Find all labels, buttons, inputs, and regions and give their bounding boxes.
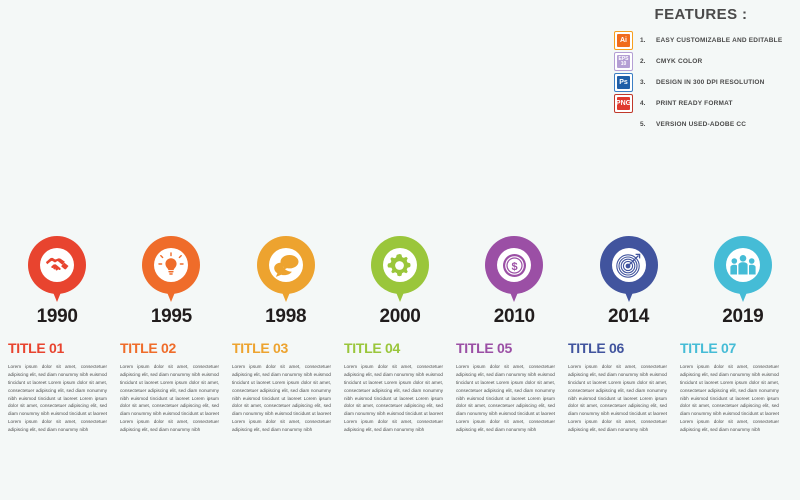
gear-icon <box>383 248 417 282</box>
timeline-marker-2010[interactable]: $2010 <box>457 236 571 328</box>
content-column-4: TITLE 04Lorem ipsum dolor sit amet, cons… <box>344 340 456 434</box>
column-title: TITLE 06 <box>568 340 667 356</box>
column-body-text: Lorem ipsum dolor sit amet, consectetuer… <box>344 363 443 434</box>
pin-circle <box>600 236 658 294</box>
year-label: 1990 <box>37 306 78 328</box>
lightbulb-icon <box>154 248 188 282</box>
pin-circle <box>371 236 429 294</box>
map-pin[interactable] <box>142 236 200 294</box>
pin-circle <box>257 236 315 294</box>
map-pin[interactable] <box>28 236 86 294</box>
column-body-text: Lorem ipsum dolor sit amet, consectetuer… <box>232 363 331 434</box>
blank-badge <box>614 115 633 134</box>
people-group-icon <box>726 248 760 282</box>
column-body-text: Lorem ipsum dolor sit amet, consectetuer… <box>568 363 667 434</box>
feature-label: EASY CUSTOMIZABLE AND EDITABLE <box>656 37 782 44</box>
features-panel: FEATURES : Ai1.EASY CUSTOMIZABLE AND EDI… <box>614 6 794 136</box>
map-pin[interactable] <box>257 236 315 294</box>
timeline-markers: 1990199519982000$201020142019 <box>0 236 800 328</box>
map-pin[interactable] <box>714 236 772 294</box>
badge-text: PNG <box>616 100 631 107</box>
feature-row: Ps3.DESIGN IN 300 DPI RESOLUTION <box>614 73 794 92</box>
column-body-text: Lorem ipsum dolor sit amet, consectetuer… <box>120 363 219 434</box>
timeline-marker-2000[interactable]: 2000 <box>343 236 457 328</box>
feature-number: 5. <box>640 121 656 128</box>
year-label: 1995 <box>151 306 192 328</box>
pin-circle <box>714 236 772 294</box>
column-title: TITLE 03 <box>232 340 331 356</box>
pin-circle <box>28 236 86 294</box>
timeline-content-columns: TITLE 01Lorem ipsum dolor sit amet, cons… <box>0 340 800 434</box>
feature-row: Ai1.EASY CUSTOMIZABLE AND EDITABLE <box>614 31 794 50</box>
column-title: TITLE 07 <box>680 340 779 356</box>
feature-number: 3. <box>640 79 656 86</box>
png-badge-label: PNG <box>617 97 630 110</box>
features-title: FEATURES : <box>614 6 794 23</box>
badge-text: Ps <box>619 79 628 86</box>
timeline-marker-2014[interactable]: 2014 <box>571 236 685 328</box>
content-column-7: TITLE 07Lorem ipsum dolor sit amet, cons… <box>680 340 792 434</box>
feature-label: VERSION USED-ADOBE CC <box>656 121 746 128</box>
column-body-text: Lorem ipsum dolor sit amet, consectetuer… <box>456 363 555 434</box>
dollar-coin-icon: $ <box>497 248 531 282</box>
target-icon <box>612 248 646 282</box>
content-column-2: TITLE 02Lorem ipsum dolor sit amet, cons… <box>120 340 232 434</box>
timeline-marker-1990[interactable]: 1990 <box>0 236 114 328</box>
column-title: TITLE 04 <box>344 340 443 356</box>
timeline-marker-1995[interactable]: 1995 <box>114 236 228 328</box>
png-badge: PNG <box>614 94 633 113</box>
year-label: 2010 <box>494 306 535 328</box>
pin-circle: $ <box>485 236 543 294</box>
column-title: TITLE 01 <box>8 340 107 356</box>
column-body-text: Lorem ipsum dolor sit amet, consectetuer… <box>680 363 779 434</box>
speech-bubbles-icon <box>269 248 303 282</box>
timeline-marker-1998[interactable]: 1998 <box>229 236 343 328</box>
eps10-badge: EPS10 <box>614 52 633 71</box>
eps10-badge-label: EPS10 <box>617 55 630 68</box>
content-column-1: TITLE 01Lorem ipsum dolor sit amet, cons… <box>8 340 120 434</box>
timeline-marker-2019[interactable]: 2019 <box>686 236 800 328</box>
feature-number: 1. <box>640 37 656 44</box>
map-pin[interactable]: $ <box>485 236 543 294</box>
badge-text: Ai <box>620 37 627 44</box>
map-pin[interactable] <box>600 236 658 294</box>
badge-text-2: 10 <box>621 62 627 67</box>
adobe-illustrator-badge: Ai <box>614 31 633 50</box>
content-column-3: TITLE 03Lorem ipsum dolor sit amet, cons… <box>232 340 344 434</box>
year-label: 2000 <box>379 306 420 328</box>
column-title: TITLE 05 <box>456 340 555 356</box>
column-title: TITLE 02 <box>120 340 219 356</box>
adobe-photoshop-badge: Ps <box>614 73 633 92</box>
content-column-5: TITLE 05Lorem ipsum dolor sit amet, cons… <box>456 340 568 434</box>
content-column-6: TITLE 06Lorem ipsum dolor sit amet, cons… <box>568 340 680 434</box>
feature-number: 2. <box>640 58 656 65</box>
handshake-icon <box>40 248 74 282</box>
feature-row: PNG4.PRINT READY FORMAT <box>614 94 794 113</box>
year-label: 2014 <box>608 306 649 328</box>
year-label: 1998 <box>265 306 306 328</box>
adobe-illustrator-badge-label: Ai <box>617 34 630 47</box>
feature-label: CMYK COLOR <box>656 58 702 65</box>
svg-text:$: $ <box>511 261 517 273</box>
pin-circle <box>142 236 200 294</box>
feature-row: 5.VERSION USED-ADOBE CC <box>614 115 794 134</box>
features-list: Ai1.EASY CUSTOMIZABLE AND EDITABLEEPS102… <box>614 31 794 134</box>
feature-row: EPS102.CMYK COLOR <box>614 52 794 71</box>
adobe-photoshop-badge-label: Ps <box>617 76 630 89</box>
column-body-text: Lorem ipsum dolor sit amet, consectetuer… <box>8 363 107 434</box>
year-label: 2019 <box>722 306 763 328</box>
feature-label: DESIGN IN 300 DPI RESOLUTION <box>656 79 765 86</box>
feature-label: PRINT READY FORMAT <box>656 100 733 107</box>
map-pin[interactable] <box>371 236 429 294</box>
feature-number: 4. <box>640 100 656 107</box>
